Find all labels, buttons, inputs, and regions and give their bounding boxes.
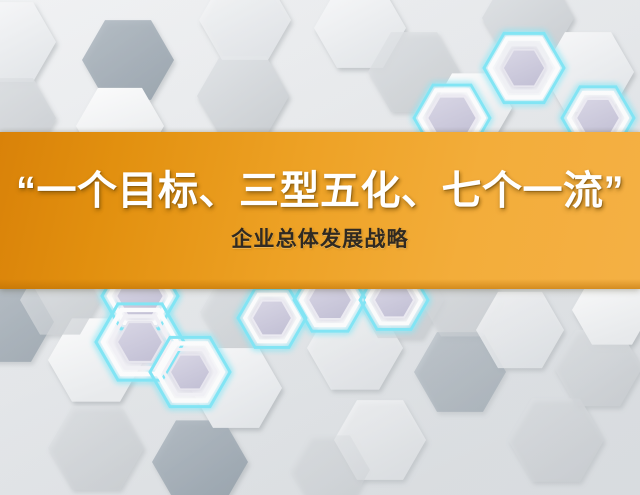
- title-slide: “一个目标、三型五化、七个一流” 企业总体发展战略: [0, 0, 640, 495]
- page-subtitle: 企业总体发展战略: [231, 215, 409, 251]
- title-banner: “一个目标、三型五化、七个一流” 企业总体发展战略: [0, 132, 640, 289]
- page-title: “一个目标、三型五化、七个一流”: [16, 170, 624, 215]
